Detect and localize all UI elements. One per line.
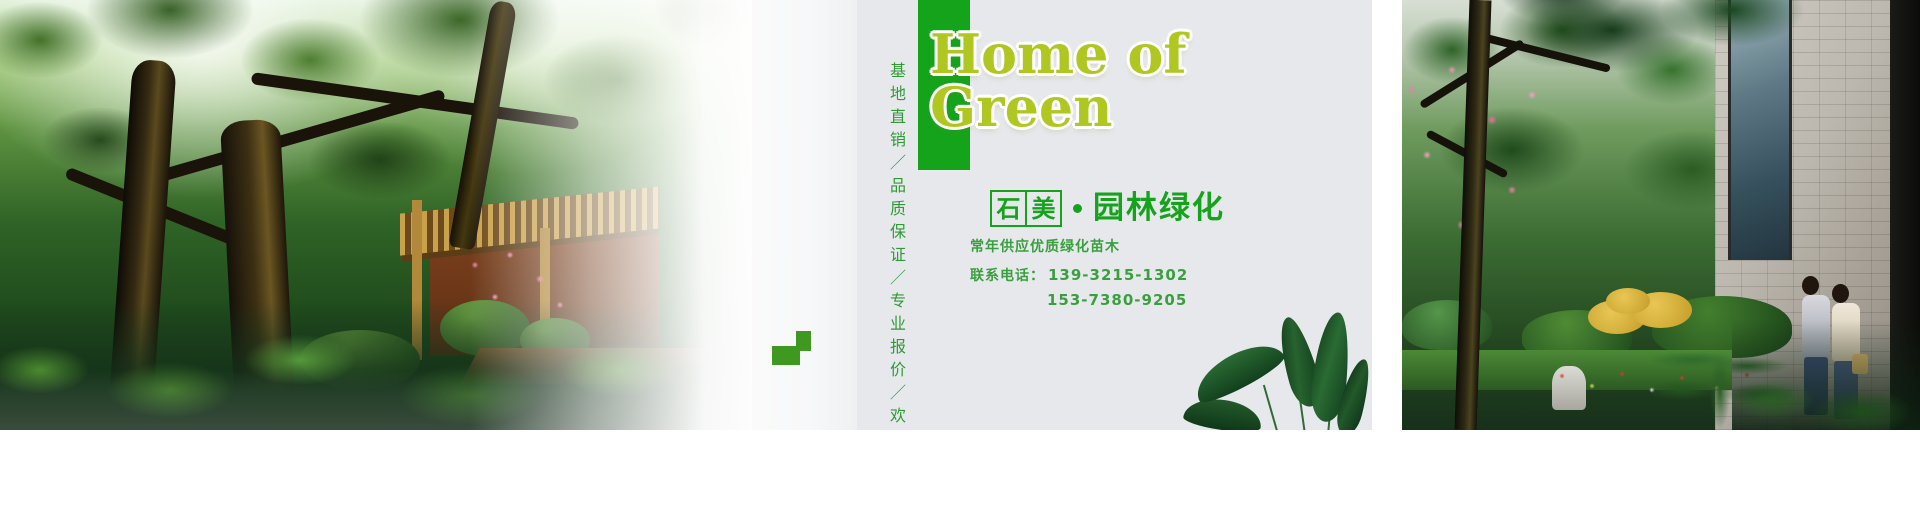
phone-label: 联系电话：	[970, 265, 1045, 285]
banner-title-line2: Green	[930, 81, 1360, 134]
left-photo	[0, 0, 770, 430]
logo-separator-dot	[1073, 204, 1082, 213]
foreground-shrubs	[1732, 320, 1920, 430]
leaf-icon	[1182, 395, 1263, 430]
person-head	[1802, 276, 1819, 295]
tree-canopy	[1502, 0, 1832, 150]
promo-banner: 基地直销／品质保证／专业报价／欢迎选购 Home of Green 石 美 园林…	[0, 0, 1920, 520]
banner-title-line1: Home of	[930, 28, 1360, 81]
decorative-squares	[772, 330, 832, 370]
contact-block: 常年供应优质绿化苗木 联系电话： 139-3215-1302 153-7380-…	[970, 236, 1188, 309]
company-logo: 石 美 园林绿化	[990, 190, 1225, 227]
person-head	[1832, 284, 1849, 303]
left-photo-edge-fade	[470, 0, 770, 430]
vertical-slogan: 基地直销／品质保证／专业报价／欢迎选购	[874, 62, 904, 430]
leaf-icon	[1188, 333, 1289, 408]
tagline: 常年供应优质绿化苗木	[970, 236, 1188, 256]
phone-number-2[interactable]: 153-7380-9205	[970, 291, 1188, 309]
garden-umbrella	[1606, 288, 1650, 314]
right-photo	[1402, 0, 1920, 430]
decorative-square-large	[772, 346, 800, 365]
leaf-decoration	[1202, 256, 1372, 430]
center-panel: 基地直销／品质保证／专业报价／欢迎选购 Home of Green 石 美 园林…	[752, 0, 1372, 430]
logo-char-1: 石	[990, 190, 1027, 227]
logo-char-2: 美	[1027, 190, 1062, 227]
phone-row-1: 联系电话： 139-3215-1302	[970, 265, 1188, 285]
bottom-white-strip	[0, 430, 1920, 520]
leaf-stem	[1263, 385, 1279, 430]
logo-boxed-chars: 石 美	[990, 190, 1062, 227]
banner-title: Home of Green	[930, 28, 1360, 134]
phone-number-1[interactable]: 139-3215-1302	[1048, 266, 1188, 284]
logo-word: 园林绿化	[1093, 193, 1225, 224]
